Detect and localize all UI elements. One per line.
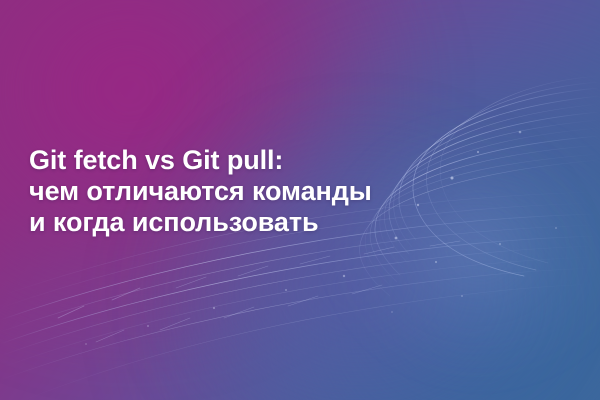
- banner-headline: Git fetch vs Git pull: чем отличаются ко…: [29, 145, 459, 238]
- article-hero-banner: Git fetch vs Git pull: чем отличаются ко…: [0, 0, 600, 400]
